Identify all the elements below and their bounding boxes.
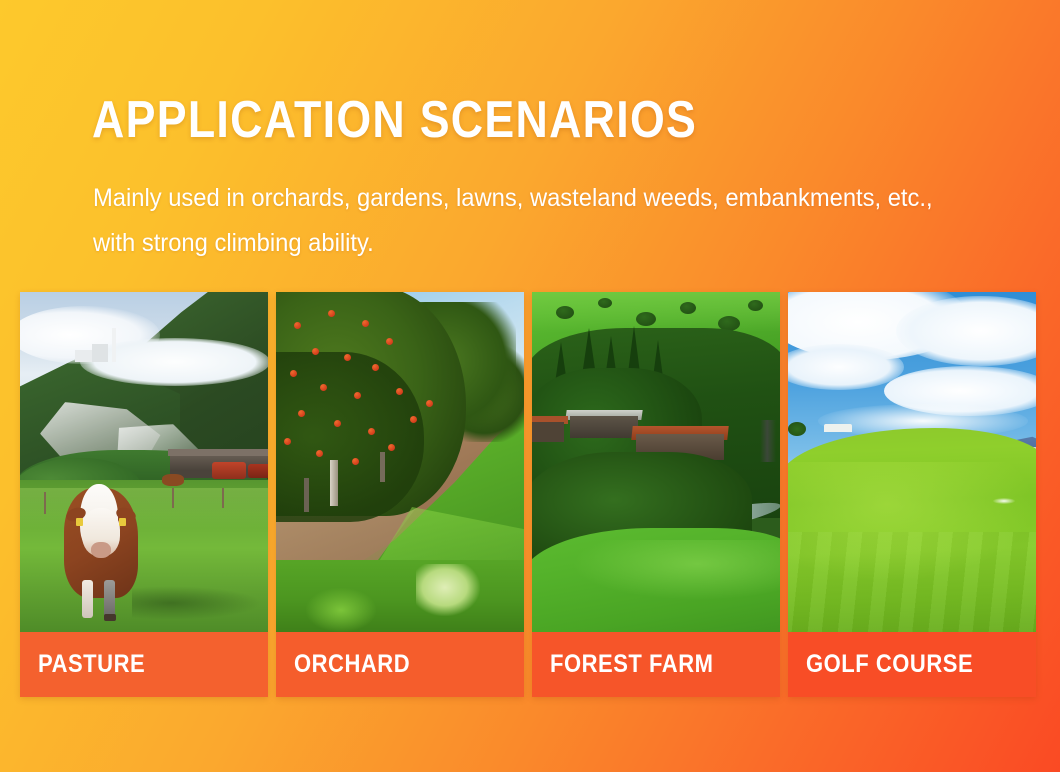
scenario-card-orchard[interactable]: ORCHARD [276,292,524,697]
farmhouse-building [532,422,564,442]
apple-tree-shadow [276,352,424,522]
shrub [636,312,656,326]
meadow-highlight [572,540,780,600]
apple-fruit [354,392,361,399]
fence-post [44,492,46,514]
shrub [680,302,696,314]
scenario-caption-bar: ORCHARD [276,632,524,697]
hilltop-hut [824,424,852,432]
cow-leg [104,580,115,618]
weed-clump [306,588,376,632]
shrub [556,306,574,319]
scenario-card-pasture[interactable]: PASTURE [20,292,268,697]
cow-muzzle [91,542,111,558]
apple-fruit [362,320,369,327]
barn-building [570,416,638,438]
shrub [598,298,612,308]
apple-fruit [368,428,375,435]
tree-trunk [330,460,338,506]
farm-shed-roof [168,449,268,456]
apple-fruit [316,450,323,457]
apple-fruit [290,370,297,377]
tree-trunk [380,452,385,482]
scenario-caption-bar: GOLF COURSE [788,632,1036,697]
distant-cow [162,474,184,486]
lawn-highlight [788,462,1036,582]
apple-fruit [410,416,417,423]
apple-fruit [426,400,433,407]
scenario-card-golf-course[interactable]: GOLF COURSE [788,292,1036,697]
cow-ear-tag [119,518,126,526]
apple-fruit [386,338,393,345]
apple-fruit [298,410,305,417]
hilltop-tree [788,422,806,436]
fence-post [172,488,174,508]
apple-fruit [396,388,403,395]
forest-farm-photo [532,292,780,632]
fence-post [222,488,224,508]
tree-trunk [304,478,309,512]
cow-ear-tag [76,518,83,526]
grass-highlight [20,488,268,528]
apple-fruit [320,384,327,391]
scenario-label: GOLF COURSE [806,650,973,679]
power-pylon [760,420,776,462]
scenario-card-list: PASTURE [20,292,1041,697]
hilltop-building [92,344,108,362]
tractor-shape [212,462,246,479]
chimney-stack [112,328,116,362]
cow-hoof [104,614,116,621]
page-title: APPLICATION SCENARIOS [92,92,697,148]
scenario-caption-bar: FOREST FARM [532,632,780,697]
scenario-label: ORCHARD [294,650,410,679]
apple-fruit [372,364,379,371]
shrub [748,300,763,311]
page-subtitle: Mainly used in orchards, gardens, lawns,… [93,176,977,266]
fairway-marker [993,498,1015,504]
flowering-weed-clump [416,564,480,616]
scenario-card-forest-farm[interactable]: FOREST FARM [532,292,780,697]
cloud-icon [80,338,268,386]
apple-fruit [388,444,395,451]
apple-fruit [344,354,351,361]
orchard-photo [276,292,524,632]
tractor-shape [248,464,268,478]
scenario-label: PASTURE [38,650,145,679]
apple-fruit [334,420,341,427]
golf-course-photo [788,292,1036,632]
scenario-label: FOREST FARM [550,650,713,679]
application-scenarios-banner: APPLICATION SCENARIOS Mainly used in orc… [0,0,1060,772]
scenario-caption-bar: PASTURE [20,632,268,697]
cow-shadow [132,586,262,620]
apple-fruit [312,348,319,355]
cow-leg [82,580,93,618]
apple-fruit [328,310,335,317]
apple-fruit [294,322,301,329]
apple-fruit [352,458,359,465]
pasture-photo [20,292,268,632]
apple-fruit [284,438,291,445]
